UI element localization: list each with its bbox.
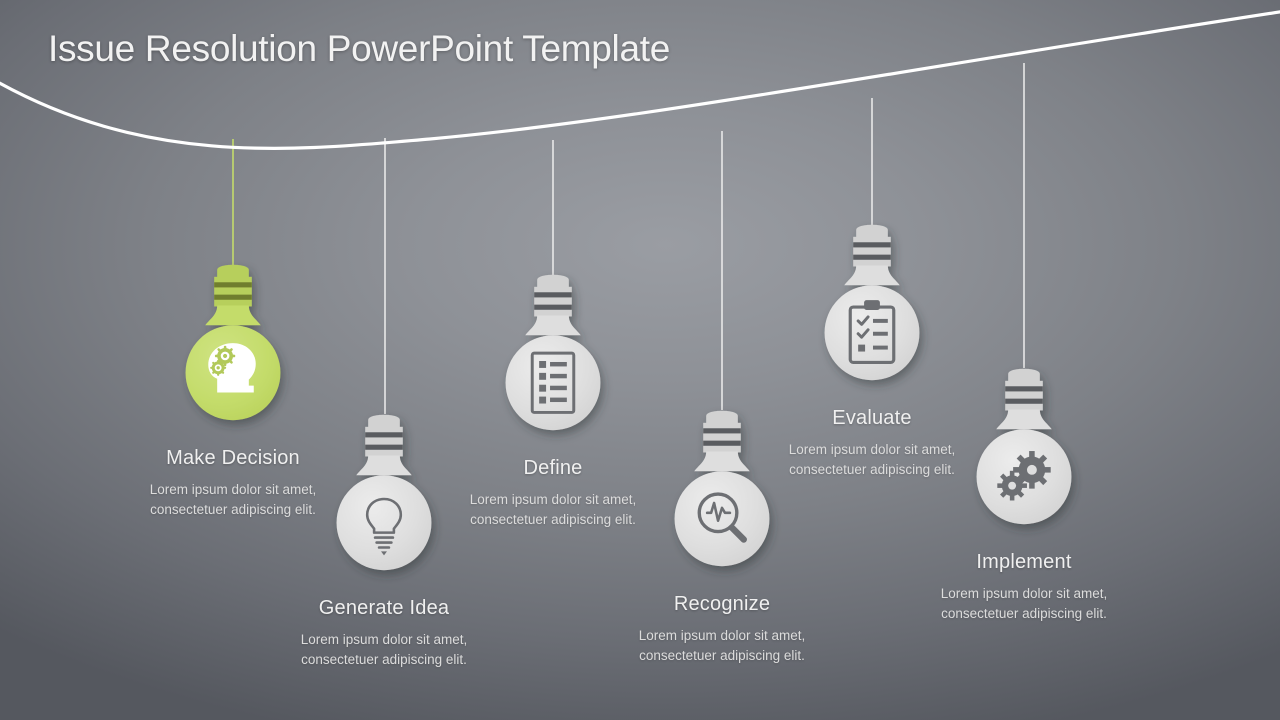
node-body-generate-idea: Lorem ipsum dolor sit amet, consectetuer… [289, 630, 479, 669]
node-body-implement: Lorem ipsum dolor sit amet, consectetuer… [929, 584, 1119, 623]
lightbulb-icon[interactable] [964, 366, 1084, 544]
node-title-recognize: Recognize [592, 592, 852, 616]
bulb-node-implement[interactable]: Implement Lorem ipsum dolor sit amet, co… [894, 366, 1154, 623]
page-title: Issue Resolution PowerPoint Template [48, 28, 670, 70]
bulb-graphic-implement[interactable] [894, 366, 1154, 544]
node-title-generate-idea: Generate Idea [254, 596, 514, 620]
slide-canvas: Issue Resolution PowerPoint Template [0, 0, 1280, 720]
node-body-recognize: Lorem ipsum dolor sit amet, consectetuer… [627, 626, 817, 665]
node-title-implement: Implement [894, 550, 1154, 574]
